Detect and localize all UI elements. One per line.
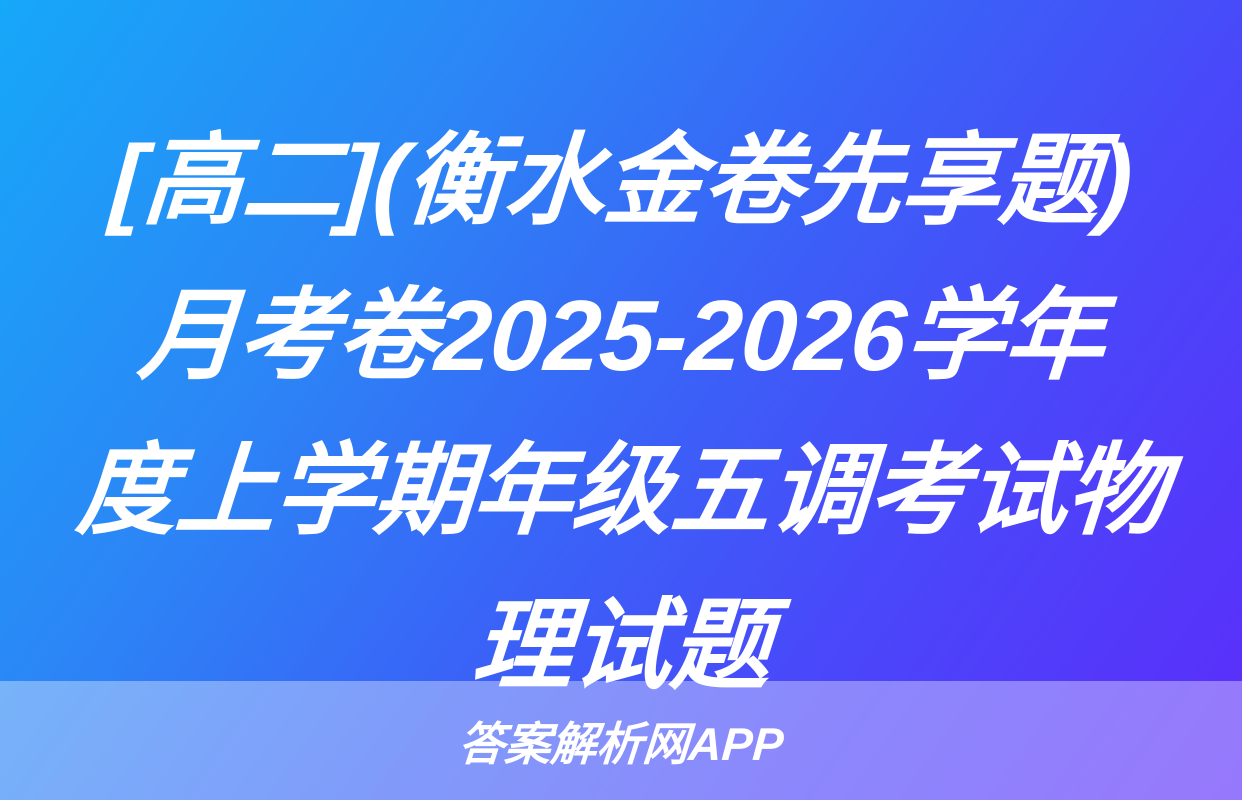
exam-cover-banner: [高二](衡水金卷先享题) 月考卷2025-2026学年 度上学期年级五调考试物… bbox=[0, 0, 1242, 800]
title-line-3: 度上学期年级五调考试物 bbox=[71, 414, 1171, 569]
title-block: [高二](衡水金卷先享题) 月考卷2025-2026学年 度上学期年级五调考试物… bbox=[0, 0, 1242, 681]
app-name-label: 答案解析网APP bbox=[456, 708, 785, 774]
title-line-1: [高二](衡水金卷先享题) bbox=[105, 104, 1136, 259]
footer-bar: 答案解析网APP bbox=[0, 681, 1242, 800]
title-line-2: 月考卷2025-2026学年 bbox=[133, 259, 1108, 414]
